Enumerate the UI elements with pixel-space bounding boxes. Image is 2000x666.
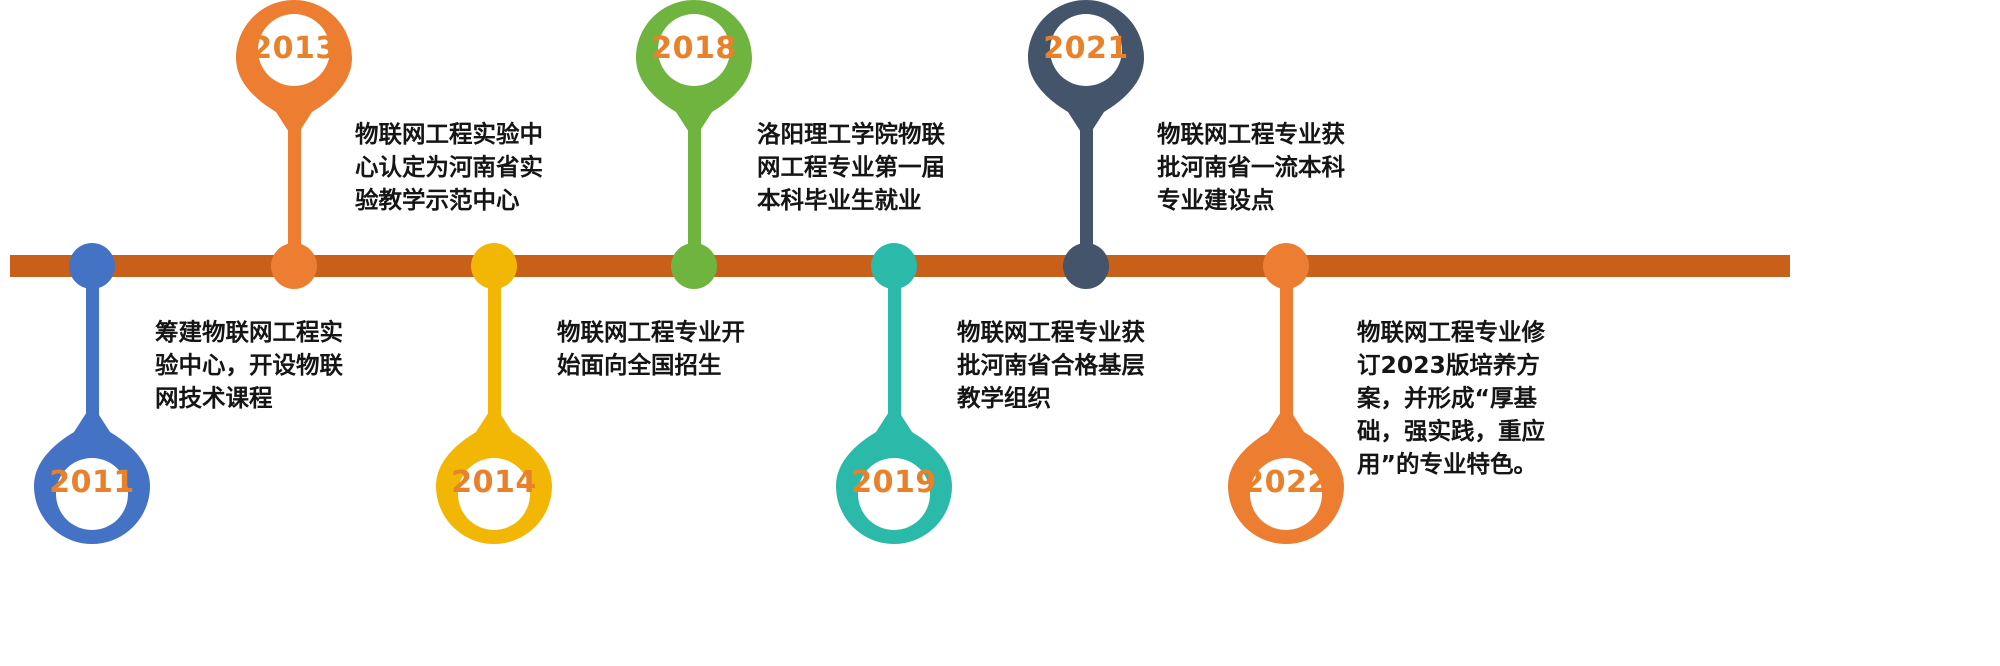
year-pin-marker-2019[interactable]: 2019 [836, 404, 952, 544]
milestone-description-2022: 物联网工程专业修 订2023版培养方 案，并形成“厚基 础，强实践，重应 用”的… [1357, 316, 1575, 481]
timeline-infographic: 2011201320142018201920212022 筹建物联网工程实 验中… [0, 0, 2000, 666]
milestone-node-dot-2018[interactable] [671, 243, 717, 289]
milestone-node-dot-2013[interactable] [271, 243, 317, 289]
milestone-node-dot-2011[interactable] [69, 243, 115, 289]
year-pin-marker-2013[interactable]: 2013 [236, 0, 352, 140]
milestone-description-2014: 物联网工程专业开 始面向全国招生 [557, 316, 775, 382]
year-pin-marker-2011[interactable]: 2011 [34, 404, 150, 544]
milestone-node-dot-2019[interactable] [871, 243, 917, 289]
year-pin-marker-2018[interactable]: 2018 [636, 0, 752, 140]
year-pin-marker-2022[interactable]: 2022 [1228, 404, 1344, 544]
milestone-description-2019: 物联网工程专业获 批河南省合格基层 教学组织 [957, 316, 1175, 415]
milestone-description-2021: 物联网工程专业获 批河南省一流本科 专业建设点 [1157, 118, 1375, 217]
pin-year-label-2014: 2014 [436, 465, 552, 500]
milestone-node-dot-2021[interactable] [1063, 243, 1109, 289]
milestone-description-2018: 洛阳理工学院物联 网工程专业第一届 本科毕业生就业 [757, 118, 975, 217]
year-pin-marker-2014[interactable]: 2014 [436, 404, 552, 544]
pin-year-label-2018: 2018 [636, 31, 752, 66]
pin-year-label-2021: 2021 [1028, 31, 1144, 66]
pin-year-label-2013: 2013 [236, 31, 352, 66]
milestone-node-dot-2022[interactable] [1263, 243, 1309, 289]
milestone-description-2013: 物联网工程实验中 心认定为河南省实 验教学示范中心 [355, 118, 573, 217]
pin-year-label-2022: 2022 [1228, 465, 1344, 500]
milestone-node-dot-2014[interactable] [471, 243, 517, 289]
pin-year-label-2011: 2011 [34, 465, 150, 500]
pin-year-label-2019: 2019 [836, 465, 952, 500]
milestone-description-2011: 筹建物联网工程实 验中心，开设物联 网技术课程 [155, 316, 373, 415]
year-pin-marker-2021[interactable]: 2021 [1028, 0, 1144, 140]
